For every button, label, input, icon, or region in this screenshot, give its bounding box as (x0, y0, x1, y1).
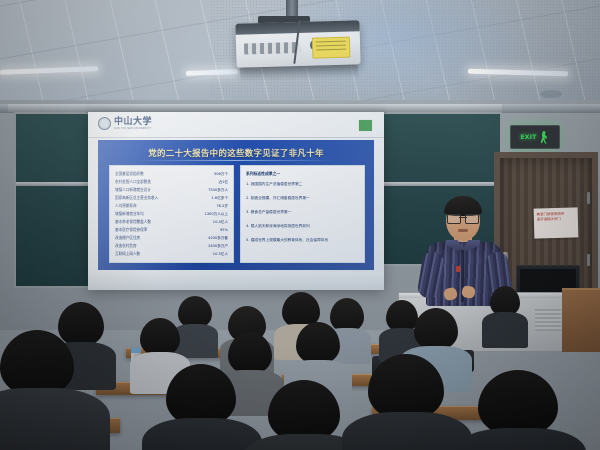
slide-stat-value: 506万个 (214, 172, 228, 177)
slide-stat-value: 1.6亿多个 (212, 196, 229, 201)
university-logo: 中山大学 SUN YAT-SEN UNIVERSITY (98, 117, 152, 130)
slide-stat-label: 基本养老保险覆盖人数 (115, 219, 151, 224)
chalkboard-divider (16, 182, 94, 186)
university-name-cn: 中山大学 (114, 118, 152, 127)
classroom-photo: 中山大学 SUN YAT-SEN UNIVERSITY 党的二十大报告中的这些数… (0, 0, 600, 450)
slide-header: 中山大学 SUN YAT-SEN UNIVERSITY (88, 112, 384, 138)
podium-vent-grille (535, 309, 561, 331)
slide-stat-label: 城镇人口新增就业总计 (115, 187, 151, 192)
slide-stat-row: 人均预期寿命78.2岁 (110, 202, 233, 210)
person-shoulders (482, 312, 528, 348)
slide-title: 党的二十大报告中的这些数字见证了非凡十年 (98, 147, 374, 159)
audience-person (0, 330, 74, 450)
audience-person (178, 296, 212, 336)
person-head (368, 354, 444, 420)
slide-title-underline (138, 160, 334, 161)
person-head (296, 322, 340, 364)
audience-person (490, 286, 520, 324)
door-notice-paper: 教室门禁使用说明 离开请随手关门 (534, 207, 579, 238)
slide-header-rule (88, 137, 384, 138)
slide-stat-label: 改造农村危房 (115, 243, 137, 248)
audience-person (268, 380, 340, 450)
slide-stat-row: 互联网上网人数10.5亿人 (110, 250, 233, 258)
slide-stat-row: 基本养老保险覆盖人数10.4亿人 (110, 218, 233, 226)
projector-port-panel (244, 42, 300, 55)
person-head (140, 318, 180, 356)
slide-bullet-item: 1. 我国国内生产总值稳居世界第二 (241, 177, 364, 191)
slide-bullet-item: 3. 粮食总产量稳居世界第一 (241, 205, 364, 219)
door-hinge-top (587, 192, 590, 204)
university-name-en: SUN YAT-SEN UNIVERSITY (114, 127, 152, 130)
audience-person (368, 354, 444, 450)
slide-stat-label: 国家高新区总主营业务收入 (115, 195, 158, 200)
slide-stat-value: 10.4亿人 (213, 220, 228, 225)
slide-stat-value: 1300万人以上 (204, 212, 228, 217)
presenter-lapel-badge (456, 266, 460, 272)
slide-stat-label: 人均预期寿命 (115, 203, 137, 208)
screen-lower-margin (88, 272, 384, 290)
slide-stat-row: 全国基层党组织数506万个 (110, 170, 233, 178)
slide-stat-label: 城镇新增就业年均 (115, 211, 144, 216)
warning-label-icon (312, 37, 351, 59)
side-table (562, 288, 600, 352)
slide-stat-label: 农村贫困人口全部脱贫 (115, 179, 151, 184)
slide-stat-label: 全国基层党组织数 (115, 171, 144, 176)
person-shoulders (342, 412, 472, 450)
exit-sign-label: EXIT (520, 134, 536, 141)
person-head (166, 364, 236, 426)
audience-person (478, 370, 558, 450)
door-notice-line-2: 离开请随手关门 (537, 217, 575, 223)
chalkboard-left (14, 112, 96, 288)
person-head (414, 308, 458, 350)
slide-statistics-panel: 全国基层党组织数506万个农村贫困人口全部脱贫近1亿城镇人口新增就业总计7500… (109, 165, 234, 263)
emergency-exit-sign: EXIT (510, 125, 560, 149)
audience-person (296, 322, 340, 376)
person-head (0, 330, 74, 396)
audience-person (166, 364, 236, 450)
slide-stat-value: 近1亿 (219, 180, 228, 185)
slide-accent-square (358, 119, 373, 132)
slide-stat-value: 4200多万套 (208, 236, 228, 241)
slide-stat-value: 95% (220, 228, 228, 232)
slide-stat-label: 互联网上网人数 (115, 251, 140, 256)
person-shoulders (0, 388, 110, 450)
slide-stat-value: 10.5亿人 (213, 252, 228, 257)
glasses-bridge (459, 217, 467, 218)
presenter-mouth (458, 229, 468, 232)
slide-stat-row: 城镇人口新增就业总计7500多万人 (110, 186, 233, 194)
ceiling-vent (540, 90, 562, 98)
slide-bullet-item: 4. 载人航天和深海深地探测居世界前列 (241, 219, 364, 233)
person-head (268, 380, 340, 442)
chalkboard-divider (380, 182, 500, 186)
slide-bullets-heading: 系列标志性成果之一 (241, 166, 364, 177)
slide-stat-label: 改造棚户区住房 (115, 235, 140, 240)
slide-stat-row: 基本医疗保险参保率95% (110, 226, 233, 234)
person-shoulders (142, 418, 262, 450)
projection-screen: 中山大学 SUN YAT-SEN UNIVERSITY 党的二十大报告中的这些数… (88, 112, 384, 290)
slide-stat-row: 改造农村危房2400多万户 (110, 242, 233, 250)
slide-stat-value: 78.2岁 (216, 204, 228, 209)
door-hinge-bottom (587, 254, 590, 266)
slide-bullet-item: 2. 制造业规模、外汇储备稳居世界第一 (241, 191, 364, 205)
university-seal-icon (98, 117, 111, 130)
person-head (478, 370, 558, 436)
slide-stat-value: 7500多万人 (208, 188, 228, 193)
slide-stat-label: 基本医疗保险参保率 (115, 227, 147, 232)
slide-stat-row: 改造棚户区住房4200多万套 (110, 234, 233, 242)
audience-person (140, 318, 180, 368)
slide-stat-row: 国家高新区总主营业务收入1.6亿多个 (110, 194, 233, 202)
slide-bullets-panel: 系列标志性成果之一1. 我国国内生产总值稳居世界第二2. 制造业规模、外汇储备稳… (240, 165, 365, 263)
slide-stat-row: 城镇新增就业年均1300万人以上 (110, 210, 233, 218)
slide-bullet-item: 5. 建成世界上规模最大的教育体系、社会保障体系 (241, 233, 364, 247)
slide-body: 党的二十大报告中的这些数字见证了非凡十年 全国基层党组织数506万个农村贫困人口… (98, 140, 374, 270)
slide-stat-value: 2400多万户 (208, 244, 228, 249)
slide-stat-row: 农村贫困人口全部脱贫近1亿 (110, 178, 233, 186)
presenter-hair (444, 196, 482, 216)
person-shoulders (454, 428, 586, 450)
running-person-icon (539, 131, 550, 144)
